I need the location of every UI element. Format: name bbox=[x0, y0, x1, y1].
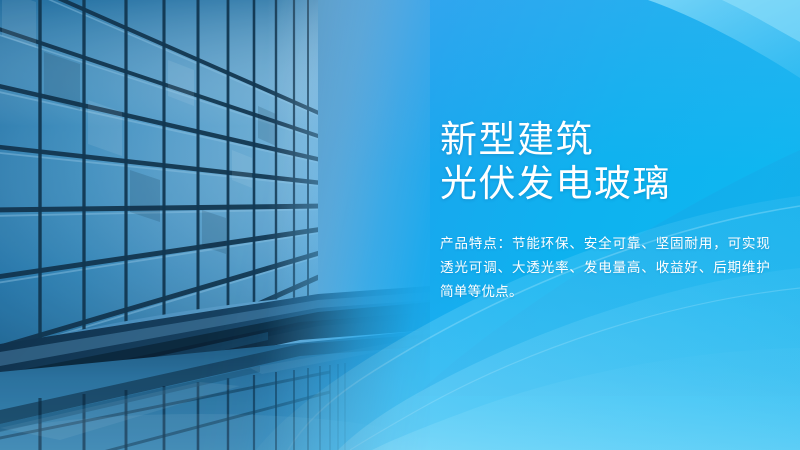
building-photo bbox=[0, 0, 430, 450]
headline-line-2: 光伏发电玻璃 bbox=[440, 162, 770, 206]
promo-banner: 新型建筑 光伏发电玻璃 产品特点：节能环保、安全可靠、坚固耐用，可实现透光可调、… bbox=[0, 0, 800, 450]
headline-line-1: 新型建筑 bbox=[440, 118, 770, 162]
banner-copy: 新型建筑 光伏发电玻璃 产品特点：节能环保、安全可靠、坚固耐用，可实现透光可调、… bbox=[440, 118, 770, 304]
product-features-text: 产品特点：节能环保、安全可靠、坚固耐用，可实现透光可调、大透光率、发电量高、收益… bbox=[440, 232, 770, 304]
